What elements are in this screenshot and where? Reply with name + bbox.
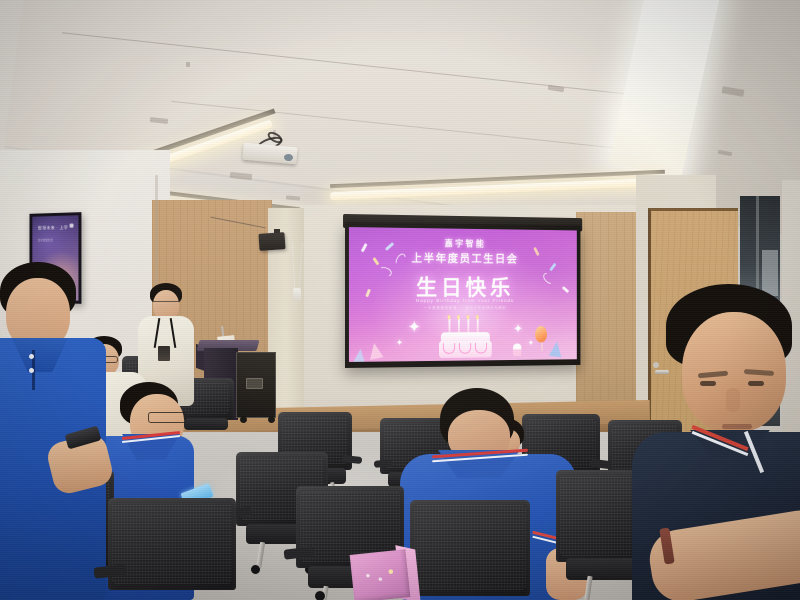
cupcake — [513, 343, 521, 356]
candle — [449, 319, 451, 333]
chair-backrest — [410, 500, 530, 596]
slide-chinese-subtitle: 一半是蛋糕的甜蜜 成长于年的快乐与精彩 — [349, 306, 577, 311]
case-wheel — [240, 416, 247, 423]
glasses — [148, 412, 186, 423]
candle-flame — [476, 315, 479, 320]
chair-caster — [314, 590, 326, 600]
ceiling-sensor — [186, 62, 190, 67]
wall-speaker — [258, 232, 285, 251]
sparkle-star-icon: ✦ — [513, 322, 523, 335]
conference-room-photo: 智领未来 · 上学 智享智慧生活 嘉宇智能 上半年度员工生日会 — [0, 0, 800, 600]
id-badge — [158, 346, 170, 361]
sparkle-star-icon: ✦ — [407, 319, 421, 336]
candle-flame — [457, 315, 460, 320]
slide-event-title: 上半年度员工生日会 — [349, 249, 577, 267]
candle — [467, 319, 469, 333]
projector — [243, 139, 297, 163]
balloon — [535, 326, 547, 342]
nose — [726, 388, 740, 412]
case-wheel — [268, 416, 275, 423]
sparkle-star-icon: ✦ — [528, 340, 534, 348]
person-right-foreground-navy-polo — [638, 284, 800, 600]
poster-subline: 智享智慧生活 — [38, 239, 73, 243]
conference-chair[interactable] — [108, 498, 236, 600]
party-hat — [367, 342, 383, 360]
candle-flame — [448, 315, 451, 320]
case-latch — [246, 378, 263, 389]
birthday-cake — [439, 326, 492, 358]
shirt-button — [29, 354, 34, 359]
chair-backrest — [108, 498, 236, 590]
slide-company-name: 嘉宇智能 — [349, 236, 577, 250]
candle-flame — [466, 315, 469, 320]
party-hat — [549, 340, 564, 357]
projection-screen: 嘉宇智能 上半年度员工生日会 生日快乐 Happy Birthday from … — [345, 222, 580, 382]
chair-caster — [250, 564, 261, 575]
glasses — [153, 301, 179, 306]
person-left-foreground-blue-polo — [0, 262, 114, 600]
slide-content: 嘉宇智能 上半年度员工生日会 生日快乐 Happy Birthday from … — [349, 227, 577, 362]
shirt-button — [29, 368, 34, 373]
chair-mesh — [414, 505, 526, 590]
candle — [477, 319, 479, 333]
party-hat — [352, 348, 367, 362]
slide-english-subtitle: Happy Birthday from Your Friends — [349, 298, 577, 303]
mouth — [722, 424, 752, 429]
eye — [748, 381, 764, 386]
conference-chair[interactable] — [410, 500, 530, 600]
chair-mesh — [112, 503, 232, 584]
sparkle-star-icon: ✦ — [396, 339, 403, 348]
poster-headline: 智领未来 · 上学 — [38, 225, 74, 232]
eye — [700, 381, 716, 386]
screen-frame: 嘉宇智能 上半年度员工生日会 生日快乐 Happy Birthday from … — [345, 222, 580, 368]
screen-pull-handle[interactable] — [293, 288, 301, 301]
candle — [458, 319, 460, 333]
